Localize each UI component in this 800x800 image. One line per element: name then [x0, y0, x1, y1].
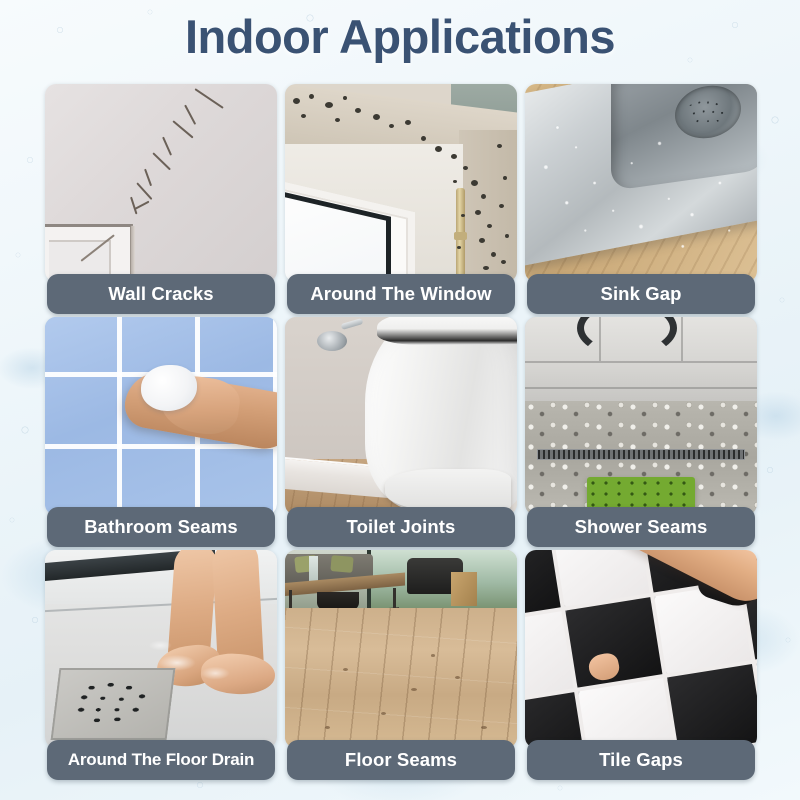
- card-label-sink-gap: Sink Gap: [527, 274, 755, 314]
- floor-drain-grate: [51, 668, 176, 740]
- photo-bathroom-seams: [45, 317, 277, 515]
- application-card-floor-seams[interactable]: Floor Seams: [285, 550, 517, 780]
- card-label-bathroom-seams: Bathroom Seams: [47, 507, 275, 547]
- photo-around-the-window: [285, 84, 517, 282]
- photo-around-the-floor-drain: [45, 550, 277, 748]
- toilet-seat: [377, 317, 517, 345]
- application-card-tile-gaps[interactable]: Tile Gaps: [525, 550, 757, 780]
- photo-sink-gap: [525, 84, 757, 282]
- application-card-toilet-joints[interactable]: Toilet Joints: [285, 317, 517, 547]
- toilet-base: [385, 469, 511, 511]
- application-card-wall-cracks[interactable]: Wall Cracks: [45, 84, 277, 314]
- application-card-sink-gap[interactable]: Sink Gap: [525, 84, 757, 314]
- photo-toilet-joints: [285, 317, 517, 515]
- application-card-around-the-window[interactable]: Around The Window: [285, 84, 517, 314]
- card-label-toilet-joints: Toilet Joints: [287, 507, 515, 547]
- photo-wall-cracks: [45, 84, 277, 282]
- linear-drain-grate: [537, 449, 745, 460]
- photo-shower-seams: [525, 317, 757, 515]
- photo-floor-seams: [285, 550, 517, 748]
- pipe: [456, 188, 465, 282]
- card-label-shower-seams: Shower Seams: [527, 507, 755, 547]
- card-label-floor-seams: Floor Seams: [287, 740, 515, 780]
- photo-tile-gaps: [525, 550, 757, 748]
- shutoff-valve: [317, 331, 347, 351]
- card-label-tile-gaps: Tile Gaps: [527, 740, 755, 780]
- applications-grid: Wall Cracks: [45, 84, 757, 780]
- application-card-shower-seams[interactable]: Shower Seams: [525, 317, 757, 547]
- application-card-around-the-floor-drain[interactable]: Around The Floor Drain: [45, 550, 277, 780]
- card-label-around-the-floor-drain: Around The Floor Drain: [47, 740, 275, 780]
- application-card-bathroom-seams[interactable]: Bathroom Seams: [45, 317, 277, 547]
- card-label-around-the-window: Around The Window: [287, 274, 515, 314]
- card-label-wall-cracks: Wall Cracks: [47, 274, 275, 314]
- page-title: Indoor Applications: [0, 8, 800, 67]
